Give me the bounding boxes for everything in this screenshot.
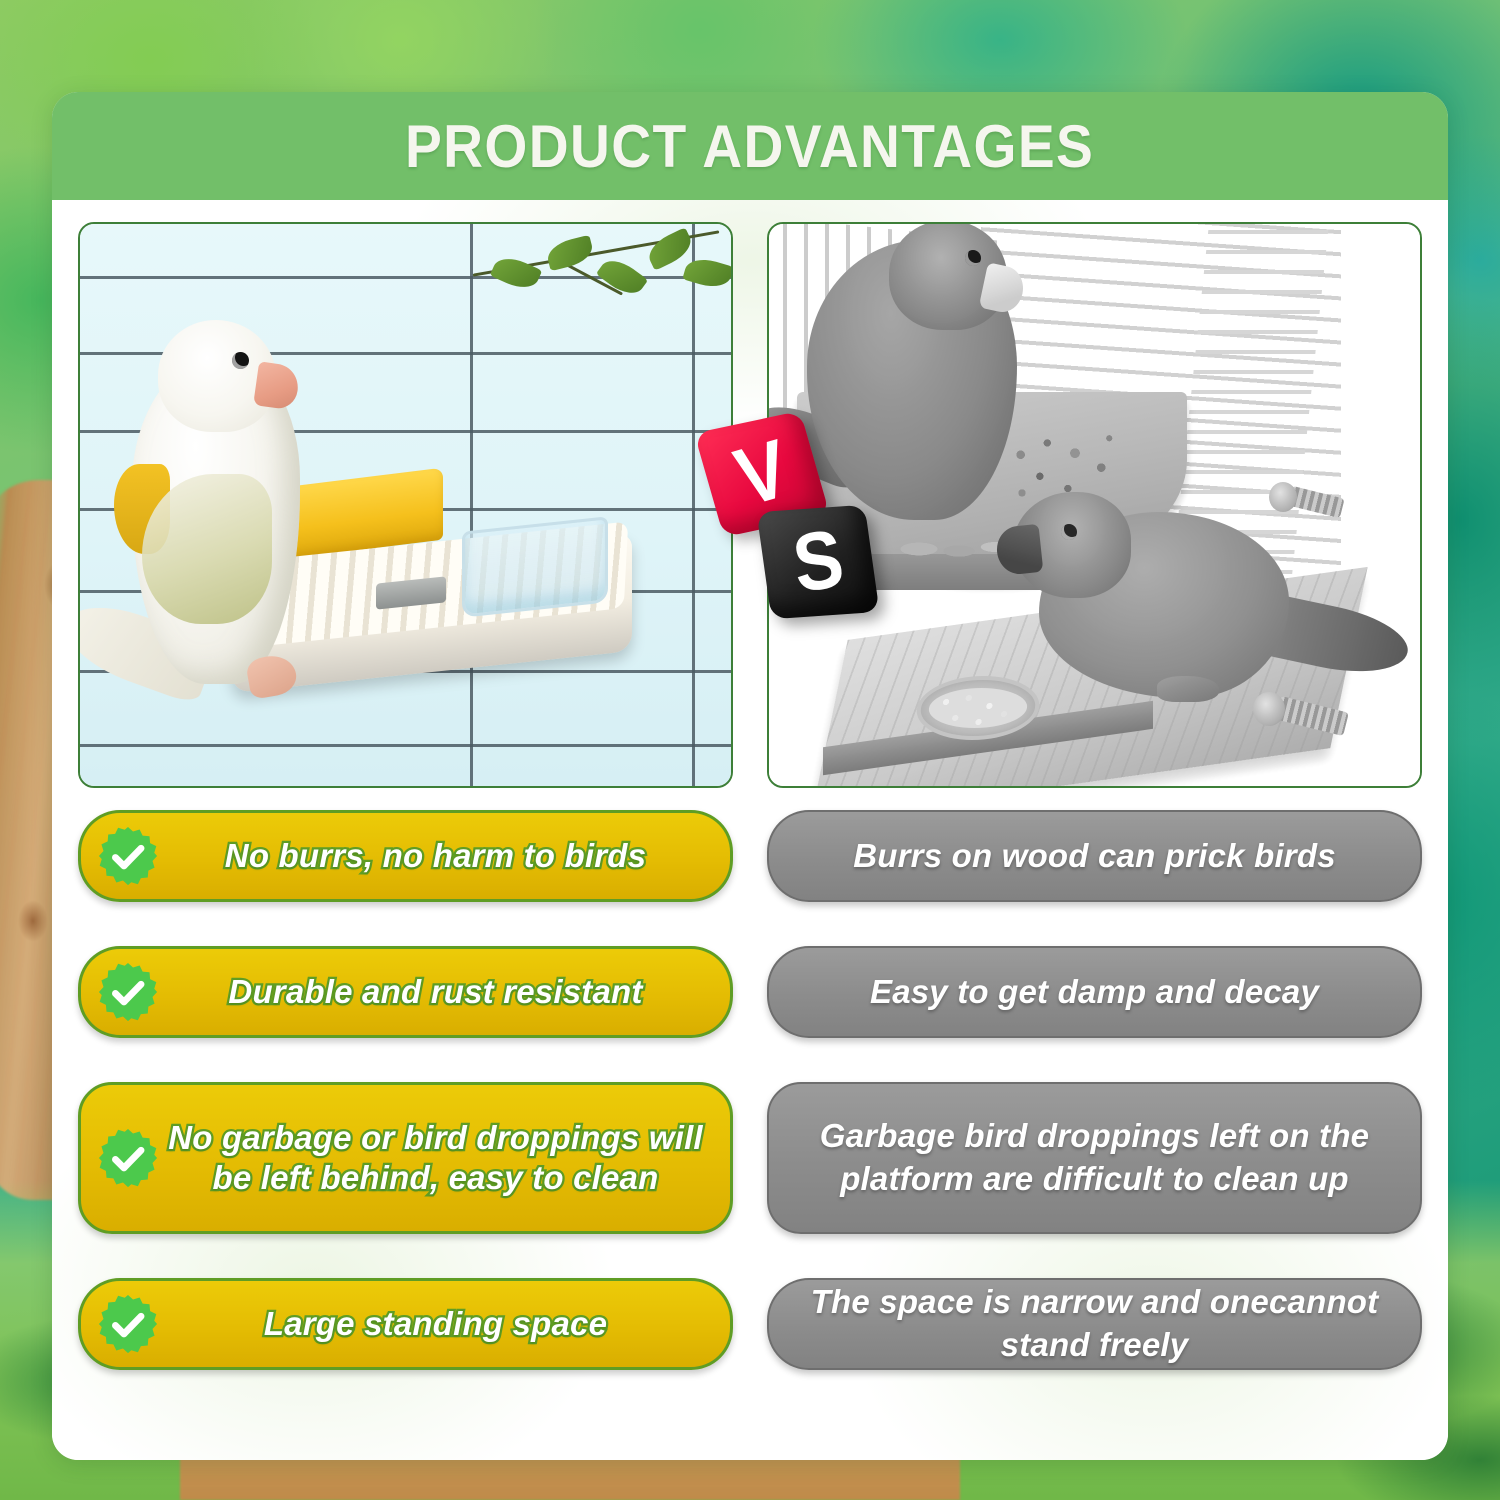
leaf-branch-decoration (451, 230, 733, 320)
content-card: PRODUCT ADVANTAGES (52, 92, 1448, 1460)
photo-comparison-row: V S (78, 222, 1422, 788)
check-badge-icon (97, 1293, 159, 1355)
feature-comparison-area: No burrs, no harm to birds Durable and r… (78, 810, 1422, 1370)
check-badge-icon (97, 961, 159, 1023)
card-body: V S (52, 200, 1448, 1460)
product-photo-scene (80, 224, 731, 786)
mounting-screw-head (1253, 692, 1285, 726)
con-feature-label: Garbage bird droppings left on the platf… (799, 1115, 1390, 1201)
check-badge-icon (97, 825, 159, 887)
infographic-stage: PRODUCT ADVANTAGES (0, 0, 1500, 1500)
con-feature-label: Burrs on wood can prick birds (853, 835, 1336, 878)
photo-panel-product (78, 222, 733, 788)
check-badge-icon (97, 1127, 159, 1189)
pro-feature-row[interactable]: No garbage or bird droppings will be lef… (78, 1082, 733, 1234)
con-feature-label: The space is narrow and onecannot stand … (799, 1281, 1390, 1367)
pros-column: No burrs, no harm to birds Durable and r… (78, 810, 733, 1370)
page-title: PRODUCT ADVANTAGES (405, 112, 1094, 181)
water-cup (462, 516, 608, 617)
con-feature-row[interactable]: The space is narrow and onecannot stand … (767, 1278, 1422, 1370)
cons-column: Burrs on wood can prick birds Easy to ge… (767, 810, 1422, 1370)
pro-feature-label: No burrs, no harm to birds (225, 836, 646, 876)
white-bird-eye (232, 352, 249, 369)
mounting-screw-head (1269, 482, 1297, 512)
pro-feature-label: Large standing space (264, 1304, 607, 1344)
pro-feature-row[interactable]: Durable and rust resistant (78, 946, 733, 1038)
pro-feature-row[interactable]: No burrs, no harm to birds (78, 810, 733, 902)
gray-bird-2-eye (1061, 524, 1077, 540)
con-feature-row[interactable]: Easy to get damp and decay (767, 946, 1422, 1038)
competitor-photo-scene (769, 224, 1420, 786)
card-header: PRODUCT ADVANTAGES (52, 92, 1448, 200)
gray-bird-2-foot (1157, 676, 1219, 702)
photo-panel-competitor (767, 222, 1422, 788)
gray-bird-1-eye (965, 250, 981, 266)
white-bird-beak (253, 361, 301, 410)
con-feature-row[interactable]: Burrs on wood can prick birds (767, 810, 1422, 902)
tree-knot-decoration (18, 900, 48, 942)
con-feature-label: Easy to get damp and decay (870, 971, 1319, 1014)
pro-feature-row[interactable]: Large standing space (78, 1278, 733, 1370)
pro-feature-label: Durable and rust resistant (228, 972, 642, 1012)
con-feature-row[interactable]: Garbage bird droppings left on the platf… (767, 1082, 1422, 1234)
pro-feature-label: No garbage or bird droppings will be lef… (167, 1118, 704, 1199)
